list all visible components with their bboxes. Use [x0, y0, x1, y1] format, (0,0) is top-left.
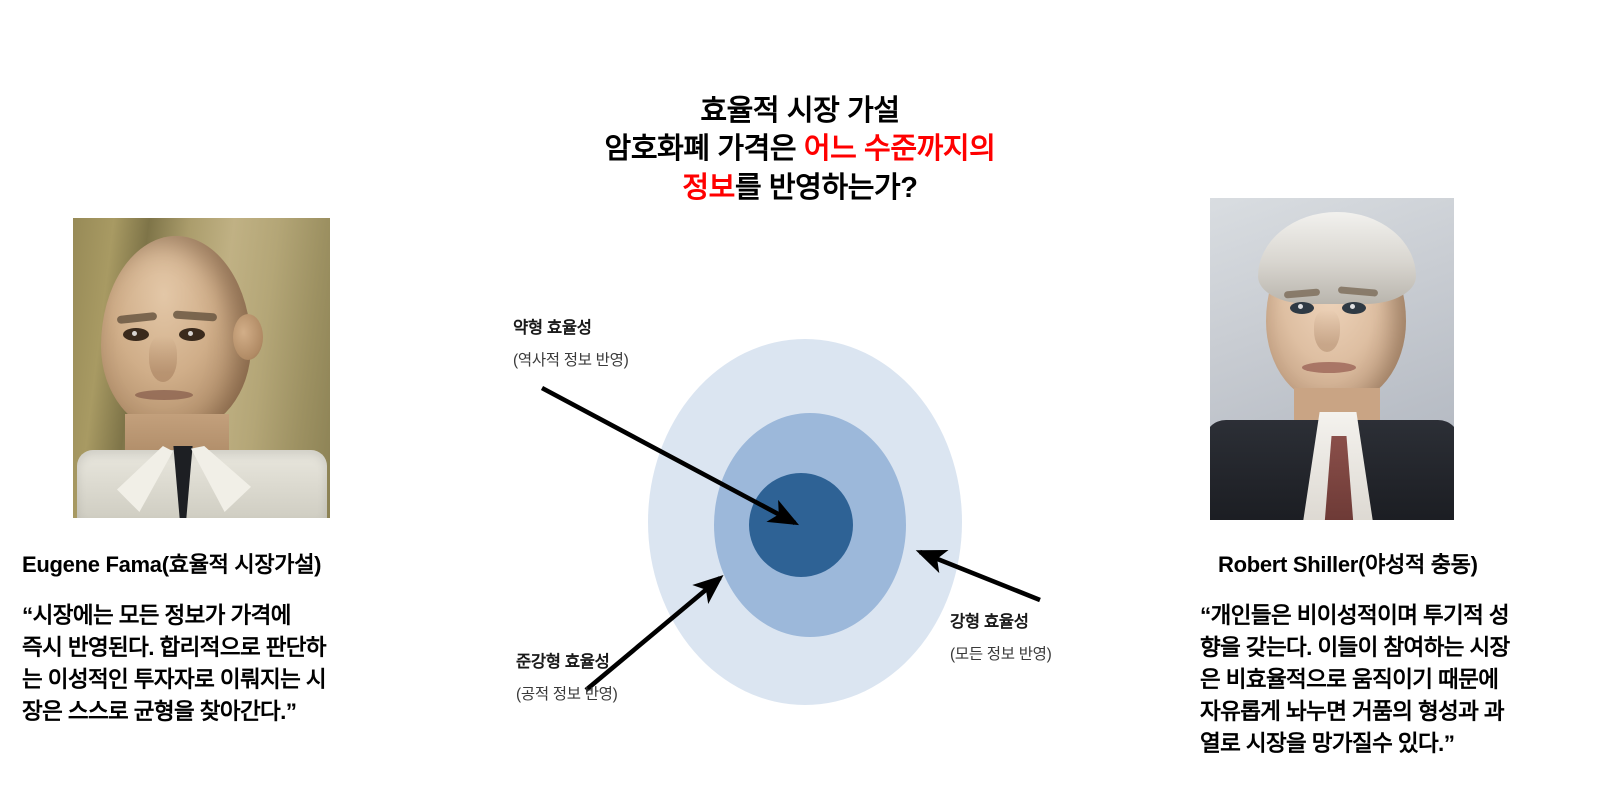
label-strong-form-sub: (모든 정보 반영) — [950, 642, 1052, 664]
eye-right — [1342, 302, 1366, 314]
quote-line: 은 비효율적으로 움직이기 때문에 — [1200, 664, 1600, 696]
eugene-fama-photo — [73, 218, 330, 518]
eye-left — [123, 328, 149, 341]
quote-line: 향을 갖는다. 이들이 참여하는 시장 — [1200, 632, 1600, 664]
quote-line: “개인들은 비이성적이며 투기적 성 — [1200, 600, 1600, 632]
quote-line: 즉시 반영된다. 합리적으로 판단하 — [22, 632, 432, 664]
eye-left — [1290, 302, 1314, 314]
title-line-3: 정보를 반영하는가? — [480, 169, 1120, 207]
quote-line: 열로 시장을 망가질수 있다.” — [1200, 728, 1600, 760]
nose-shape — [149, 336, 177, 382]
eye-right — [179, 328, 205, 341]
title-line-2-plain: 암호화폐 가격은 — [605, 133, 804, 165]
robert-shiller-quote: “개인들은 비이성적이며 투기적 성 향을 갖는다. 이들이 참여하는 시장 은… — [1200, 600, 1600, 760]
eugene-fama-name: Eugene Fama(효율적 시장가설) — [22, 547, 321, 579]
title-line-2: 암호화폐 가격은 어느 수준까지의 — [480, 130, 1120, 168]
ring-inner-weak-form — [749, 473, 853, 577]
robert-shiller-name: Robert Shiller(야성적 충동) — [1218, 547, 1478, 579]
page-title: 효율적 시장 가설 암호화폐 가격은 어느 수준까지의 정보를 반영하는가? — [480, 92, 1120, 207]
label-weak-form-sub: (역사적 정보 반영) — [513, 348, 628, 370]
label-weak-form: 약형 효율성 (역사적 정보 반영) — [513, 314, 628, 370]
ear-shape — [233, 314, 263, 360]
nose-shape — [1314, 310, 1340, 352]
label-strong-form: 강형 효율성 (모든 정보 반영) — [950, 608, 1052, 664]
label-semistrong-form: 준강형 효율성 (공적 정보 반영) — [516, 648, 618, 704]
title-line-2-highlight: 어느 수준까지의 — [804, 133, 996, 165]
robert-shiller-photo — [1210, 198, 1454, 520]
label-strong-form-title: 강형 효율성 — [950, 608, 1052, 632]
mouth-shape — [135, 390, 193, 400]
title-line-3-highlight: 정보 — [682, 172, 735, 204]
quote-line: 장은 스스로 균형을 찾아간다.” — [22, 696, 432, 728]
eugene-fama-quote: “시장에는 모든 정보가 가격에 즉시 반영된다. 합리적으로 판단하 는 이성… — [22, 600, 432, 728]
quote-line: 는 이성적인 투자자로 이뤄지는 시 — [22, 664, 432, 696]
title-line-3-plain: 를 반영하는가? — [735, 172, 918, 204]
label-semistrong-form-sub: (공적 정보 반영) — [516, 682, 618, 704]
label-semistrong-form-title: 준강형 효율성 — [516, 648, 618, 672]
quote-line: “시장에는 모든 정보가 가격에 — [22, 600, 432, 632]
title-line-1: 효율적 시장 가설 — [480, 92, 1120, 130]
label-weak-form-title: 약형 효율성 — [513, 314, 628, 338]
quote-line: 자유롭게 놔누면 거품의 형성과 과 — [1200, 696, 1600, 728]
mouth-shape — [1302, 362, 1356, 373]
